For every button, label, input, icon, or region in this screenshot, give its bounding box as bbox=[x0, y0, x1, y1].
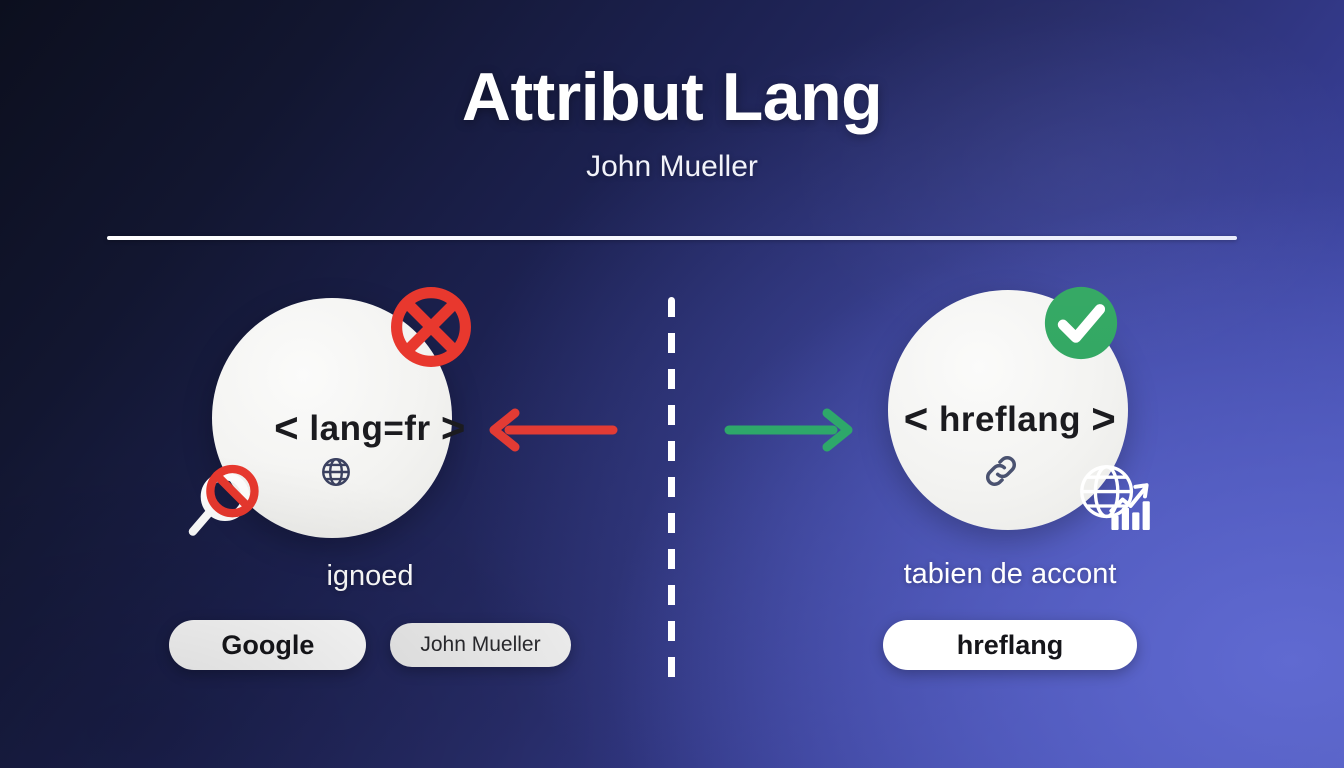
left-angle-close: > bbox=[441, 404, 466, 451]
right-angle-open: < bbox=[904, 395, 929, 442]
left-caption: ignoed bbox=[150, 560, 590, 593]
center-dashed-divider bbox=[668, 297, 675, 687]
arrow-left-red-icon bbox=[483, 405, 619, 460]
pill-john-mueller[interactable]: John Mueller bbox=[390, 623, 570, 667]
right-caption: tabien de accont bbox=[790, 558, 1230, 591]
left-angle-open: < bbox=[274, 404, 299, 451]
globe-chart-icon bbox=[1072, 458, 1154, 538]
check-mark-badge-icon bbox=[1038, 280, 1124, 366]
right-angle-close: > bbox=[1091, 395, 1116, 442]
no-search-icon bbox=[180, 458, 272, 550]
infographic-canvas: Attribut Lang John Mueller < lang=fr > bbox=[0, 0, 1344, 768]
header-divider-rule bbox=[107, 236, 1237, 240]
x-mark-badge-icon bbox=[388, 284, 474, 370]
arrow-right-green-icon bbox=[723, 405, 859, 460]
left-pill-row: Google John Mueller bbox=[150, 620, 590, 670]
left-code-label: lang=fr bbox=[309, 409, 430, 448]
right-pill-row: hreflang bbox=[790, 620, 1230, 670]
pill-hreflang[interactable]: hreflang bbox=[883, 620, 1138, 670]
page-title: Attribut Lang bbox=[0, 58, 1344, 136]
page-subtitle: John Mueller bbox=[0, 150, 1344, 184]
right-code-label: hreflang bbox=[939, 400, 1081, 439]
pill-google[interactable]: Google bbox=[169, 620, 366, 670]
